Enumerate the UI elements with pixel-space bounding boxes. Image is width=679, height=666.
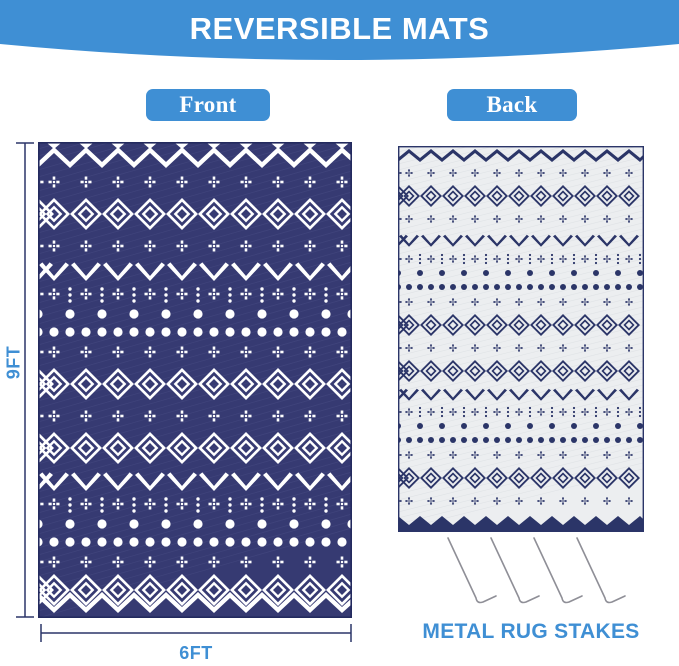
header-banner: REVERSIBLE MATS <box>0 0 679 72</box>
back-label-text: Back <box>486 92 537 118</box>
front-mat <box>38 142 352 618</box>
stake-icon-1 <box>448 538 496 603</box>
width-dimension-label: 6FT <box>38 643 354 664</box>
metal-rug-stakes-illustration <box>446 536 646 618</box>
front-label-pill: Front <box>146 89 270 121</box>
back-mat <box>398 146 644 532</box>
metal-rug-stakes-label: METAL RUG STAKES <box>396 620 666 644</box>
back-label-pill: Back <box>447 89 577 121</box>
width-dimension-line <box>38 622 354 644</box>
stake-icon-4 <box>577 538 625 603</box>
stake-icon-2 <box>491 538 539 603</box>
height-dimension-label: 9FT <box>4 340 25 386</box>
page-title: REVERSIBLE MATS <box>0 0 679 58</box>
front-label-text: Front <box>179 92 236 118</box>
stake-icon-3 <box>534 538 582 603</box>
